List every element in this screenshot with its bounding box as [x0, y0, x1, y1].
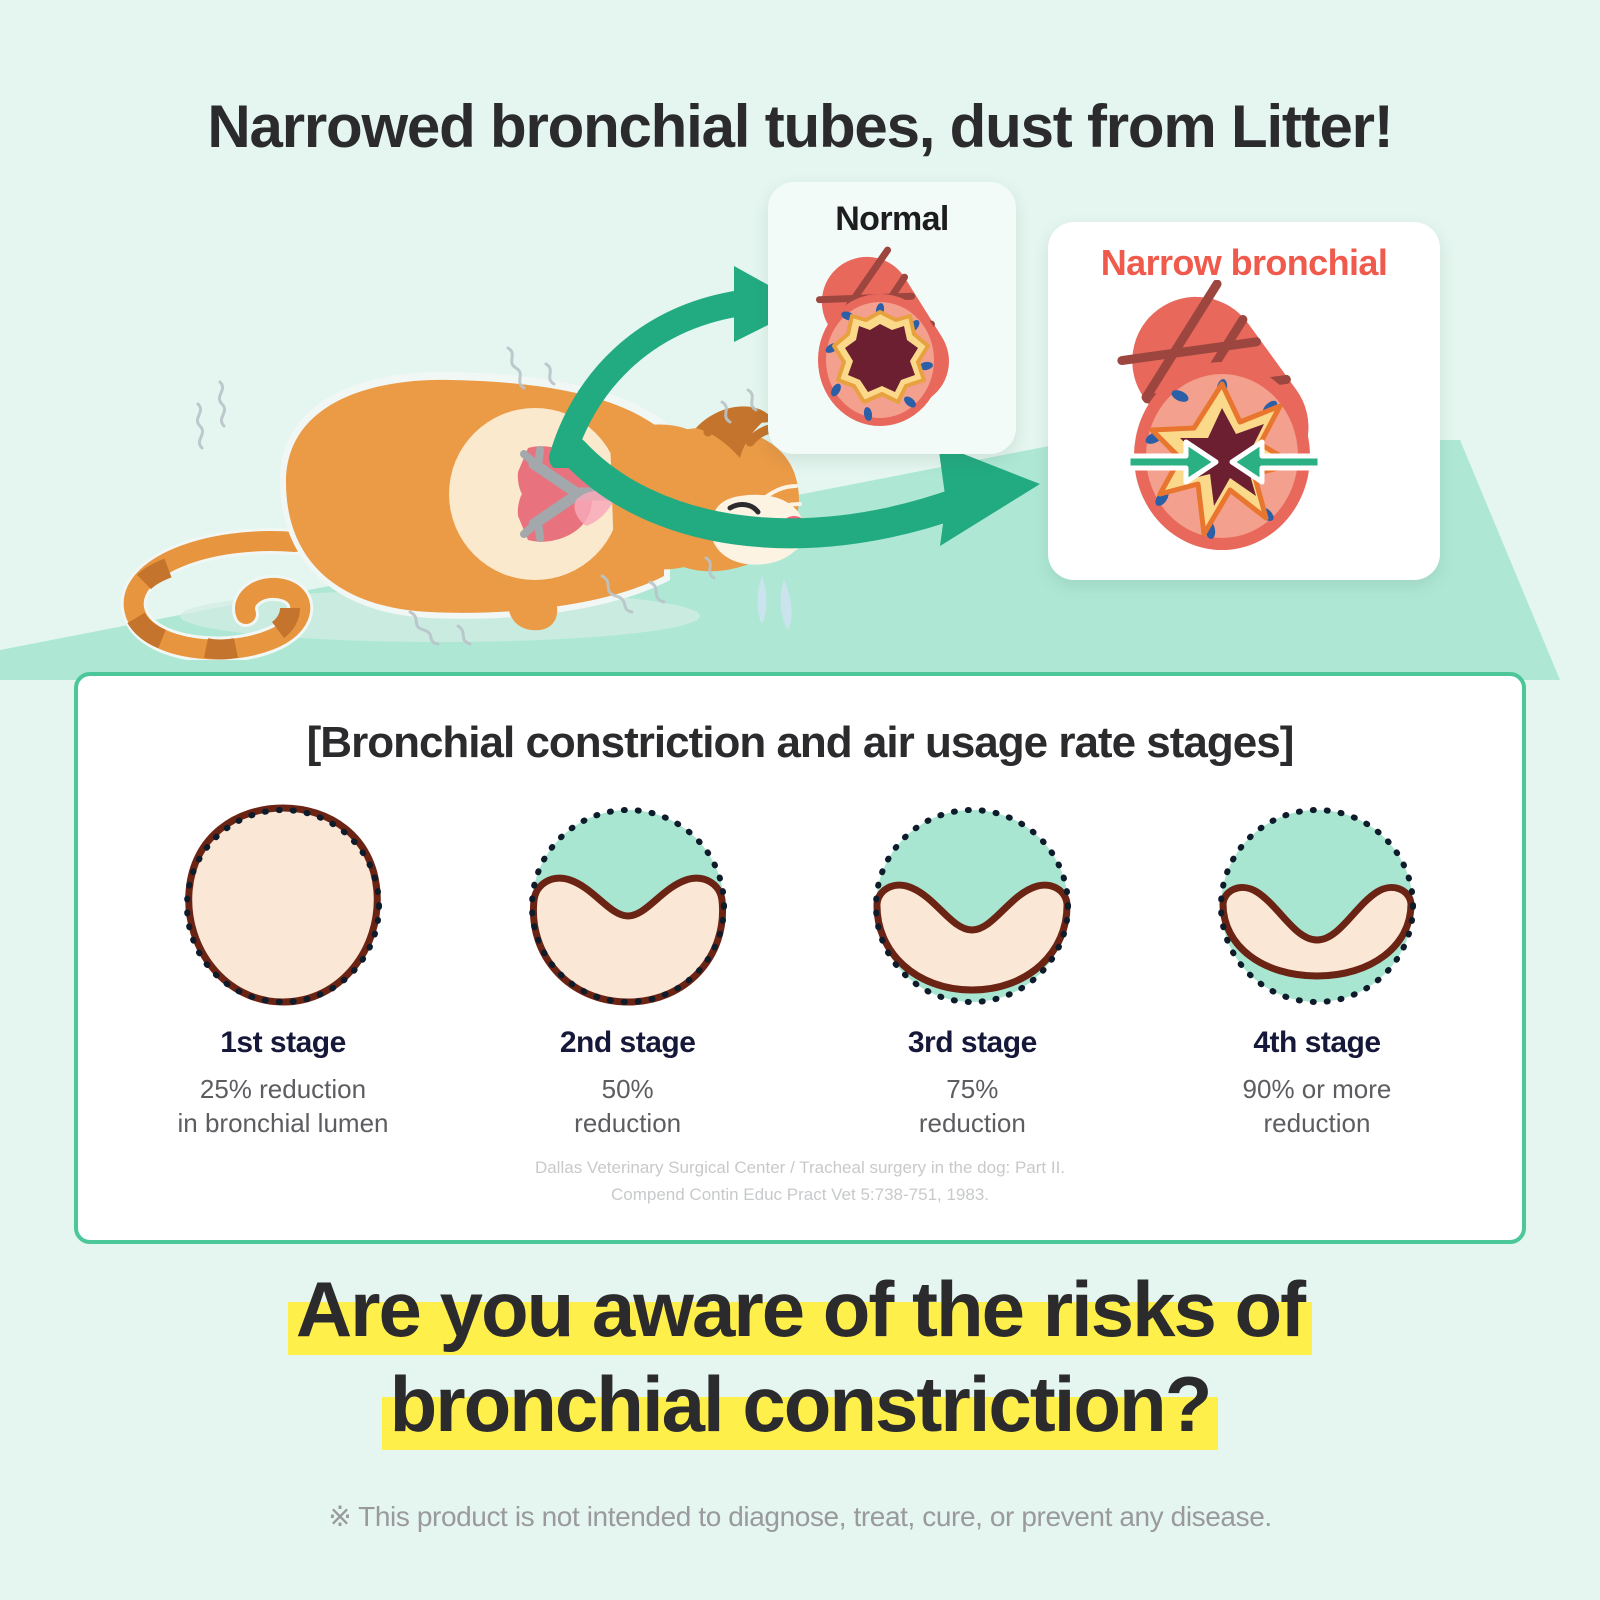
stage-2-desc: 50% reduction: [463, 1072, 793, 1141]
headline-line-1: Are you aware of the risks of: [0, 1262, 1600, 1357]
card-normal: Normal: [768, 182, 1016, 454]
stage-3-name: 3rd stage: [807, 1026, 1137, 1060]
stage-3-desc: 75% reduction: [807, 1072, 1137, 1141]
bronchial-tube-normal-icon: [792, 244, 992, 449]
card-narrow: Narrow bronchial: [1048, 222, 1440, 580]
stage-1-name: 1st stage: [118, 1026, 448, 1060]
infographic-poster: Narrowed bronchial tubes, dust from Litt…: [0, 0, 1600, 1600]
stage-3-figure: [807, 800, 1137, 1012]
stage-4-name: 4th stage: [1152, 1026, 1482, 1060]
stage-2-figure: [463, 800, 793, 1012]
stage-list: 1st stage 25% reduction in bronchial lum…: [118, 800, 1482, 1141]
bottom-headline: Are you aware of the risks of bronchial …: [0, 1262, 1600, 1452]
stage-4-desc: 90% or more reduction: [1152, 1072, 1482, 1141]
stage-item-4: 4th stage 90% or more reduction: [1152, 800, 1482, 1141]
card-narrow-label: Narrow bronchial: [1048, 242, 1440, 284]
page-title: Narrowed bronchial tubes, dust from Litt…: [0, 92, 1600, 161]
bronchial-tube-narrow-icon: [1094, 280, 1394, 581]
stage-4-figure: [1152, 800, 1482, 1012]
stage-item-1: 1st stage 25% reduction in bronchial lum…: [118, 800, 448, 1141]
stage-panel: [Bronchial constriction and air usage ra…: [74, 672, 1526, 1244]
stage-2-name: 2nd stage: [463, 1026, 793, 1060]
headline-line-2: bronchial constriction?: [0, 1357, 1600, 1452]
stage-item-3: 3rd stage 75% reduction: [807, 800, 1137, 1141]
stage-item-2: 2nd stage 50% reduction: [463, 800, 793, 1141]
panel-title: [Bronchial constriction and air usage ra…: [78, 718, 1522, 768]
citation: Dallas Veterinary Surgical Center / Trac…: [78, 1155, 1522, 1208]
stage-1-figure: [118, 800, 448, 1012]
headline-line-1-text: Are you aware of the risks of: [296, 1265, 1304, 1353]
stage-1-desc: 25% reduction in bronchial lumen: [118, 1072, 448, 1141]
headline-line-2-text: bronchial constriction?: [390, 1360, 1211, 1448]
disclaimer: ※ This product is not intended to diagno…: [0, 1500, 1600, 1533]
card-normal-label: Normal: [768, 200, 1016, 239]
